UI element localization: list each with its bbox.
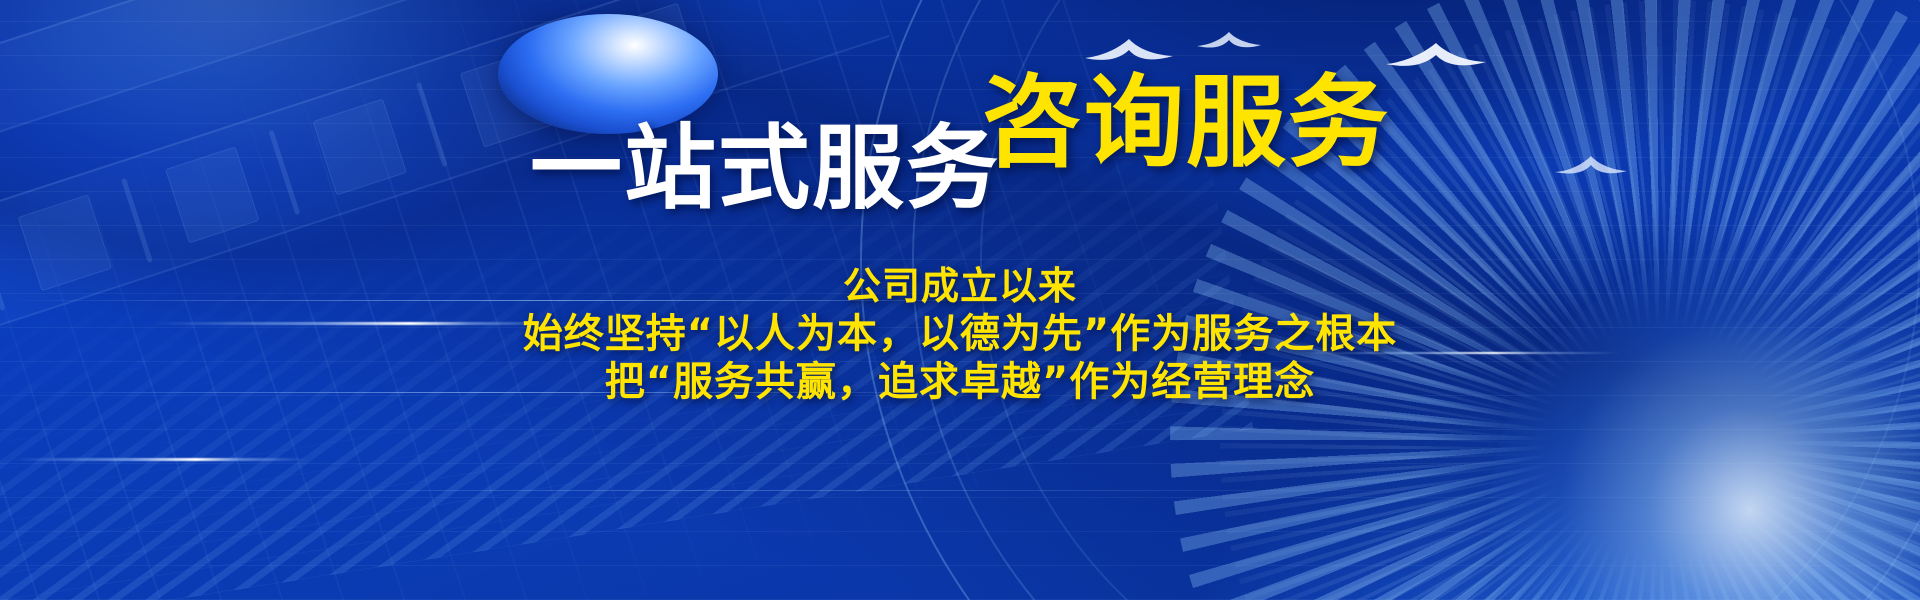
bird-icon: [1196, 30, 1262, 52]
bird-icon: [1083, 36, 1175, 66]
headline-primary: 一站式服务: [530, 123, 1000, 215]
light-streak: [10, 458, 310, 461]
bird-icon: [1384, 40, 1488, 72]
headline-accent: 咨询服务: [982, 73, 1390, 173]
body-line: 始终坚持“以人为本，以德为先”作为服务之根本: [0, 310, 1920, 358]
body-line: 把“服务共赢，追求卓越”作为经营理念: [0, 358, 1920, 406]
headline-group: 一站式服务 咨询服务: [0, 78, 1920, 208]
glow-line: [0, 490, 1450, 491]
body-text-group: 公司成立以来 始终坚持“以人为本，以德为先”作为服务之根本 把“服务共赢，追求卓…: [0, 262, 1920, 406]
promotional-banner: 一站式服务 咨询服务 公司成立以来 始终坚持“以人为本，以德为先”作为服务之根本…: [0, 0, 1920, 600]
body-line: 公司成立以来: [0, 262, 1920, 310]
